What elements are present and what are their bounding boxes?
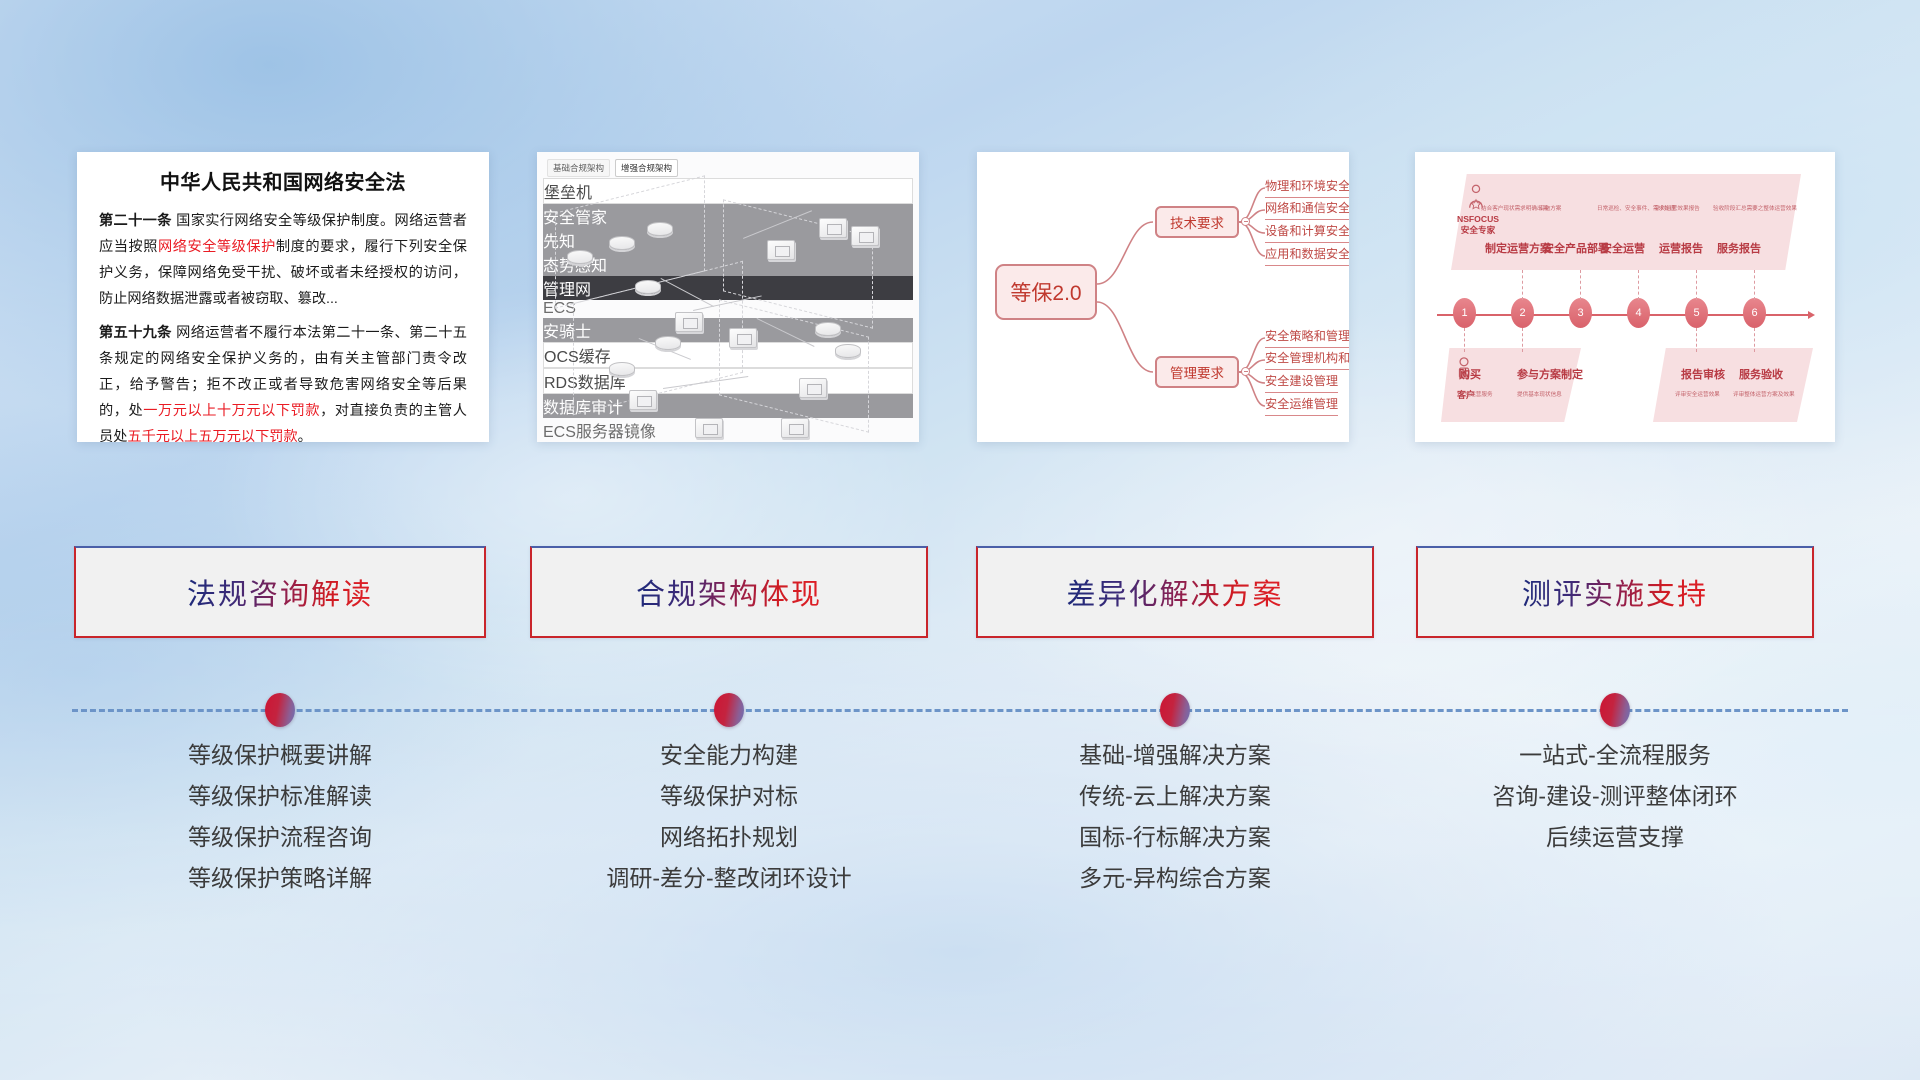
law-run-highlight: 网络安全等级保护	[158, 239, 276, 255]
timeline-step-title: 安全运营	[1601, 240, 1645, 256]
list-item: 后续运营支撑	[1416, 817, 1814, 858]
customer-step-title: 购买	[1459, 366, 1481, 382]
list-item: 等级保护对标	[530, 776, 928, 817]
section-items-2: 安全能力构建 等级保护对标 网络拓扑规划 调研-差分-整改闭环设计	[530, 735, 928, 900]
section-items-4: 一站式-全流程服务 咨询-建设-测评整体闭环 后续运营支撑	[1416, 735, 1814, 858]
mindmap-root-node[interactable]: 等保2.0	[995, 264, 1097, 320]
timeline-step-subtitle: 实施方案	[1539, 204, 1561, 212]
card-service-timeline[interactable]: NSFOCUS 安全专家 客户 123456结合客户现状需求明确出具制定运营方案…	[1415, 152, 1835, 442]
timeline-tick	[1754, 270, 1755, 300]
section-title-text: 法规咨询解读	[187, 571, 373, 613]
timeline-dot-3[interactable]	[1160, 693, 1190, 727]
mindmap-leaf[interactable]: 安全建设管理	[1265, 371, 1338, 393]
list-item: 等级保护概要讲解	[74, 735, 486, 776]
architecture-tabs[interactable]: 基础合规架构 增强合规架构	[547, 159, 678, 177]
list-item: 等级保护流程咨询	[74, 817, 486, 858]
law-article-label-59: 第五十九条	[99, 325, 172, 341]
law-paragraph-59: 第五十九条 网络运营者不履行本法第二十一条、第二十五条规定的网络安全保护义务的，…	[99, 321, 467, 442]
law-article-label-21: 第二十一条	[99, 213, 172, 229]
section-title-box-4[interactable]: 测评实施支持	[1416, 546, 1814, 638]
list-item: 安全能力构建	[530, 735, 928, 776]
timeline-node-3[interactable]: 3	[1569, 298, 1592, 328]
list-item: 基础-增强解决方案	[976, 735, 1374, 776]
node-db-audit	[695, 418, 723, 438]
process-timeline	[0, 690, 1920, 730]
timeline-tick	[1580, 270, 1581, 300]
timeline-dot-1[interactable]	[265, 693, 295, 727]
timeline-step-subtitle: 验收阶段汇总需要之整体运营效果	[1713, 204, 1797, 212]
section-title-text: 合规架构体现	[636, 571, 822, 613]
mindmap-leaf[interactable]: 安全策略和管理制度	[1265, 326, 1349, 348]
timeline-tick	[1754, 328, 1755, 352]
preview-cards-row: 中华人民共和国网络安全法 第二十一条 国家实行网络安全等级保护制度。网络运营者应…	[0, 152, 1920, 447]
mindmap-leaf[interactable]: 设备和计算安全	[1265, 221, 1349, 243]
timeline-tick	[1522, 328, 1523, 352]
timeline-step-title: 运营报告	[1659, 240, 1703, 256]
timeline-tick	[1522, 270, 1523, 300]
customer-step-title: 参与方案制定	[1517, 366, 1583, 382]
law-run-highlight: 一万元以上十万元以下罚款	[143, 403, 320, 419]
section-items-row: 等级保护概要讲解 等级保护标准解读 等级保护流程咨询 等级保护策略详解 安全能力…	[0, 735, 1920, 965]
timeline-tick	[1638, 270, 1639, 300]
card-dengbao-mindmap[interactable]: 等保2.0 技术要求 管理要求 物理和环境安全 网络和通信安全 设备和计算安全 …	[977, 152, 1349, 442]
card-cloud-architecture[interactable]: 基础合规架构 增强合规架构	[537, 152, 919, 442]
node-ca-cert	[815, 322, 841, 336]
list-item: 传统-云上解决方案	[976, 776, 1374, 817]
service-timeline-diagram: NSFOCUS 安全专家 客户 123456结合客户现状需求明确出具制定运营方案…	[1415, 152, 1835, 442]
customer-step-subtitle: 安全运营服务	[1459, 390, 1493, 398]
node-oss	[799, 378, 827, 398]
customer-step-subtitle: 评审整体运营方案及效果	[1733, 390, 1795, 398]
section-title-box-1[interactable]: 法规咨询解读	[74, 546, 486, 638]
law-run-highlight: 五千元以上五万元以下罚款	[127, 429, 297, 442]
timeline-node-1[interactable]: 1	[1453, 298, 1476, 328]
node-anti-ddos	[835, 344, 861, 358]
timeline-step-title: 服务报告	[1717, 240, 1761, 256]
mindmap-leaf[interactable]: 安全管理机构和人员	[1265, 348, 1349, 370]
mindmap: 等保2.0 技术要求 管理要求 物理和环境安全 网络和通信安全 设备和计算安全 …	[977, 152, 1349, 442]
node-intranet	[851, 226, 879, 246]
list-item: 等级保护策略详解	[74, 858, 486, 899]
node-server	[647, 222, 673, 236]
list-item: 咨询-建设-测评整体闭环	[1416, 776, 1814, 817]
timeline-node-6[interactable]: 6	[1743, 298, 1766, 328]
customer-step-subtitle: 评审安全运营效果	[1675, 390, 1720, 398]
list-item: 多元-异构综合方案	[976, 858, 1374, 899]
timeline-node-5[interactable]: 5	[1685, 298, 1708, 328]
law-document-title: 中华人民共和国网络安全法	[99, 166, 467, 195]
timeline-dot-4[interactable]	[1600, 693, 1630, 727]
customer-step-title: 报告审核	[1681, 366, 1725, 382]
law-document: 中华人民共和国网络安全法 第二十一条 国家实行网络安全等级保护制度。网络运营者应…	[77, 152, 489, 442]
node-ecs-mirror	[729, 328, 757, 348]
list-item: 国标-行标解决方案	[976, 817, 1374, 858]
section-title-text: 差异化解决方案	[1066, 571, 1283, 613]
law-run: 。	[298, 429, 312, 442]
band-customer-right	[1653, 348, 1813, 422]
node-cache	[609, 362, 635, 376]
node-database	[629, 390, 657, 410]
mindmap-leaf[interactable]: 应用和数据安全	[1265, 244, 1349, 266]
timeline-tick	[1464, 328, 1465, 352]
section-titles-row: 法规咨询解读 合规架构体现 差异化解决方案 测评实施支持	[0, 546, 1920, 642]
tab-enhanced-compliance[interactable]: 增强合规架构	[615, 159, 678, 177]
node-vpc	[781, 418, 809, 438]
architecture-canvas: 堡垒机安全管家先知态势感知管理网ECS安骑士OCS缓存RDS数据库数据库审计EC…	[543, 178, 913, 436]
timeline-tick	[1696, 328, 1697, 352]
list-item: 一站式-全流程服务	[1416, 735, 1814, 776]
list-item: 网络拓扑规划	[530, 817, 928, 858]
tab-basic-compliance[interactable]: 基础合规架构	[547, 159, 610, 177]
timeline-node-4[interactable]: 4	[1627, 298, 1650, 328]
mindmap-expand-icon[interactable]	[1241, 217, 1250, 226]
timeline-dot-2[interactable]	[714, 693, 744, 727]
section-items-1: 等级保护概要讲解 等级保护标准解读 等级保护流程咨询 等级保护策略详解	[74, 735, 486, 900]
brand-name: NSFOCUS	[1449, 214, 1507, 225]
node-waf	[767, 240, 795, 260]
node-server	[635, 280, 661, 294]
brand-nsfocus: NSFOCUS 安全专家	[1449, 214, 1507, 236]
timeline-dashed-line	[72, 709, 1848, 712]
list-item: 调研-差分-整改闭环设计	[530, 858, 928, 899]
timeline-step-subtitle: 针对运营效果报告	[1655, 204, 1700, 212]
mindmap-node-management[interactable]: 管理要求	[1155, 356, 1239, 388]
timeline-step-title: 制定运营方案	[1485, 240, 1551, 256]
card-cybersecurity-law[interactable]: 中华人民共和国网络安全法 第二十一条 国家实行网络安全等级保护制度。网络运营者应…	[77, 152, 489, 442]
customer-step-title: 服务验收	[1739, 366, 1783, 382]
timeline-step-title: 安全产品部署	[1543, 240, 1609, 256]
section-title-box-2[interactable]: 合规架构体现	[530, 546, 928, 638]
customer-step-subtitle: 提供基本现状信息	[1517, 390, 1562, 398]
node-ecs	[675, 312, 703, 332]
node-gateway	[819, 218, 847, 238]
node-server	[567, 250, 593, 264]
mindmap-leaf[interactable]: 安全运维管理	[1265, 394, 1338, 416]
timeline-node-2[interactable]: 2	[1511, 298, 1534, 328]
mindmap-leaf[interactable]: 物理和环境安全	[1265, 176, 1349, 198]
law-paragraph-21: 第二十一条 国家实行网络安全等级保护制度。网络运营者应当按照网络安全等级保护制度…	[99, 209, 467, 312]
section-title-box-3[interactable]: 差异化解决方案	[976, 546, 1374, 638]
node-agent	[655, 336, 681, 350]
mindmap-expand-icon[interactable]	[1241, 367, 1250, 376]
timeline-tick	[1696, 270, 1697, 300]
list-item: 等级保护标准解读	[74, 776, 486, 817]
architecture-diagram: 基础合规架构 增强合规架构	[537, 152, 919, 442]
node-server	[609, 236, 635, 250]
section-items-3: 基础-增强解决方案 传统-云上解决方案 国标-行标解决方案 多元-异构综合方案	[976, 735, 1374, 900]
mindmap-node-technical[interactable]: 技术要求	[1155, 206, 1239, 238]
mindmap-leaf[interactable]: 网络和通信安全	[1265, 198, 1349, 220]
section-title-text: 测评实施支持	[1522, 571, 1708, 613]
brand-role: 安全专家	[1449, 225, 1507, 236]
